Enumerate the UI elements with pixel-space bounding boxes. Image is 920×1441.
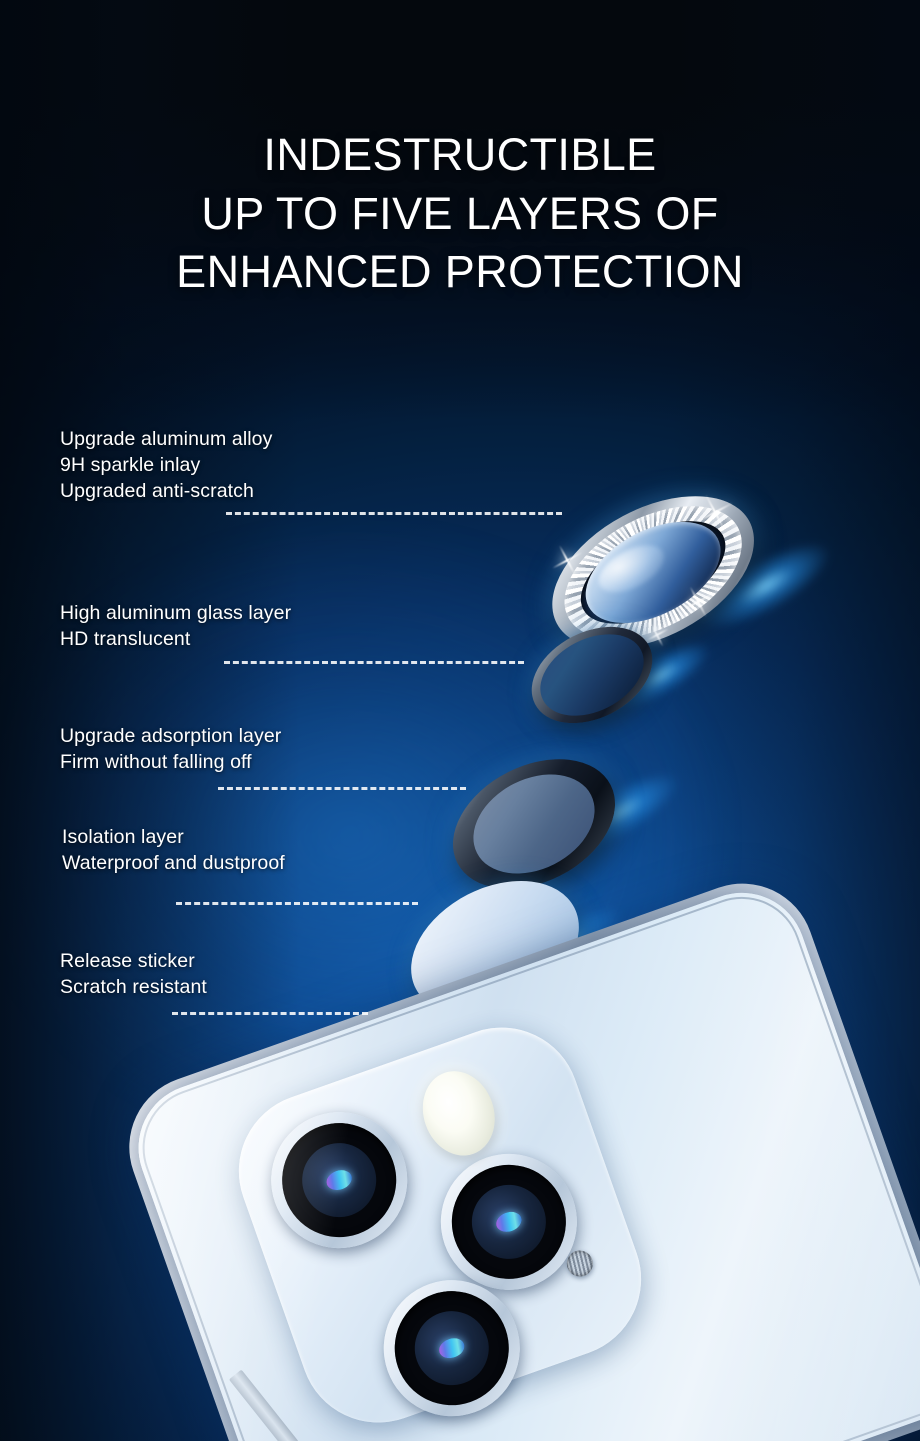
camera-flash-icon <box>411 1061 506 1165</box>
callout-line-2: 9H sparkle inlay <box>60 453 272 479</box>
callout-line-2: Scratch resistant <box>60 975 207 1001</box>
headline-line-1: INDESTRUCTIBLE <box>0 126 920 185</box>
leader-line-4 <box>176 902 418 905</box>
camera-lens-wide <box>252 1093 426 1267</box>
callout-line-2: HD translucent <box>60 627 291 653</box>
callout-upgrade-adsorption-layer: Upgrade adsorption layer Firm without fa… <box>60 724 281 776</box>
callout-line-3: Upgraded anti-scratch <box>60 479 272 505</box>
callout-upgrade-aluminum-alloy: Upgrade aluminum alloy 9H sparkle inlay … <box>60 427 272 505</box>
callout-line-2: Waterproof and dustproof <box>62 851 285 877</box>
callout-release-sticker: Release sticker Scratch resistant <box>60 949 207 1001</box>
leader-line-3 <box>218 787 466 790</box>
leader-line-1 <box>226 512 562 515</box>
lens-flare-icon <box>493 1209 524 1236</box>
callout-line-1: High aluminum glass layer <box>60 601 291 627</box>
leader-line-2 <box>224 661 524 664</box>
callout-line-1: Release sticker <box>60 949 207 975</box>
headline-line-2: UP TO FIVE LAYERS OF <box>0 185 920 244</box>
callout-line-1: Upgrade aluminum alloy <box>60 427 272 453</box>
callout-line-1: Isolation layer <box>62 825 285 851</box>
callout-isolation-layer: Isolation layer Waterproof and dustproof <box>62 825 285 877</box>
product-infographic-poster: INDESTRUCTIBLE UP TO FIVE LAYERS OF ENHA… <box>0 0 920 1441</box>
headline: INDESTRUCTIBLE UP TO FIVE LAYERS OF ENHA… <box>0 126 920 302</box>
lens-flare-icon <box>324 1167 355 1194</box>
callout-line-1: Upgrade adsorption layer <box>60 724 281 750</box>
leader-line-5 <box>172 1012 368 1015</box>
lens-flare-icon <box>436 1335 467 1362</box>
callout-high-aluminum-glass-layer: High aluminum glass layer HD translucent <box>60 601 291 653</box>
callout-line-2: Firm without falling off <box>60 750 281 776</box>
headline-line-3: ENHANCED PROTECTION <box>0 243 920 302</box>
